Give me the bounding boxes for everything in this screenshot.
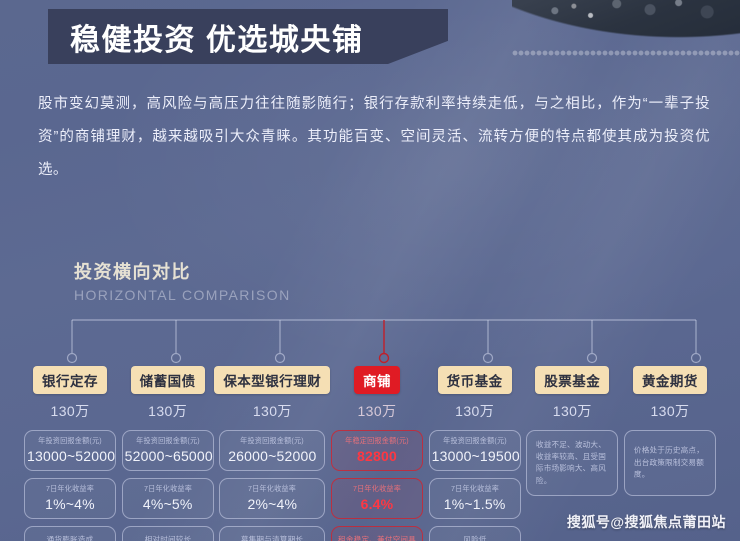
note-box: 价格处于历史高点，出台政策限制交易额度。 bbox=[624, 430, 716, 496]
return-box: 年投资回报金额(元) 26000~52000 bbox=[219, 430, 325, 471]
rate-box: 7日年化收益率 4%~5% bbox=[122, 478, 214, 519]
note-text: 通货膨胀造成 资金实际贬值 bbox=[31, 535, 109, 541]
rate-value: 6.4% bbox=[334, 495, 420, 513]
return-label: 年投资回报金额(元) bbox=[127, 435, 209, 445]
note-box: 通货膨胀造成 资金实际贬值 bbox=[24, 526, 116, 541]
column-boxes: 年稳定回报金额(元) 82800 7日年化收益率 6.4% 租金稳定、兼付空间具… bbox=[331, 430, 423, 541]
rate-box: 7日年化收益率 1%~4% bbox=[24, 478, 116, 519]
note-text: 收益不足、波动大、收益率较高、且受国际市场影响大、高风险。 bbox=[531, 439, 613, 487]
comparison-column-principal-protected: 保本型银行理财 130万 年投资回报金额(元) 26000~52000 7日年化… bbox=[219, 366, 325, 526]
column-chip[interactable]: 银行定存 bbox=[33, 366, 107, 394]
comparison-columns: 银行定存 130万 年投资回报金额(元) 13000~52000 7日年化收益率… bbox=[0, 366, 740, 526]
section-heading: 投资横向对比 HORIZONTAL COMPARISON bbox=[74, 258, 291, 303]
section-title-en: HORIZONTAL COMPARISON bbox=[74, 287, 291, 303]
comparison-column-stock-fund: 股票基金 130万 收益不足、波动大、收益率较高、且受国际市场影响大、高风险。 bbox=[526, 366, 618, 526]
column-amount: 130万 bbox=[51, 401, 90, 421]
rate-box: 7日年化收益率 2%~4% bbox=[219, 478, 325, 519]
rate-label: 7日年化收益率 bbox=[434, 483, 516, 493]
return-box: 年稳定回报金额(元) 82800 bbox=[331, 430, 423, 471]
page-title: 稳健投资 优选城央铺 bbox=[70, 15, 363, 59]
note-text: 价格处于历史高点，出台政策限制交易额度。 bbox=[629, 445, 711, 481]
note-box: 租金稳定、兼付空间具 抗风险、高抗通胀能力 bbox=[331, 526, 423, 541]
intro-paragraph: 股市变幻莫测，高风险与高压力往往随影随行；银行存款利率持续走低，与之相比，作为“… bbox=[38, 88, 710, 187]
note-box: 相对时间较长 变现不灵活 bbox=[122, 526, 214, 541]
column-boxes: 价格处于历史高点，出台政策限制交易额度。 bbox=[624, 430, 716, 496]
rate-value: 1%~1.5% bbox=[432, 495, 518, 513]
column-chip[interactable]: 黄金期货 bbox=[633, 366, 707, 394]
column-chip[interactable]: 储蓄国债 bbox=[131, 366, 205, 394]
note-text: 风险低 收益率低 bbox=[436, 535, 514, 541]
column-boxes: 年投资回报金额(元) 52000~65000 7日年化收益率 4%~5% 相对时… bbox=[122, 430, 214, 541]
column-chip[interactable]: 股票基金 bbox=[535, 366, 609, 394]
column-chip[interactable]: 货币基金 bbox=[438, 366, 512, 394]
column-chip-highlighted[interactable]: 商铺 bbox=[354, 366, 400, 394]
return-value: 13000~52000 bbox=[27, 447, 113, 465]
column-boxes: 收益不足、波动大、收益率较高、且受国际市场影响大、高风险。 bbox=[526, 430, 618, 496]
return-label: 年投资回报金额(元) bbox=[225, 435, 320, 445]
return-value: 82800 bbox=[334, 447, 420, 465]
rate-label: 7日年化收益率 bbox=[29, 483, 111, 493]
rate-box: 7日年化收益率 6.4% bbox=[331, 478, 423, 519]
column-amount: 130万 bbox=[455, 401, 494, 421]
comparison-column-money-fund: 货币基金 130万 年投资回报金额(元) 13000~19500 7日年化收益率… bbox=[429, 366, 521, 526]
note-text: 募集期与清算期长 实际收益偏低 bbox=[227, 535, 318, 541]
rate-box: 7日年化收益率 1%~1.5% bbox=[429, 478, 521, 519]
rate-value: 4%~5% bbox=[125, 495, 211, 513]
aerial-photo-image bbox=[512, 0, 740, 56]
comparison-column-gold-futures: 黄金期货 130万 价格处于历史高点，出台政策限制交易额度。 bbox=[624, 366, 716, 526]
column-boxes: 年投资回报金额(元) 26000~52000 7日年化收益率 2%~4% 募集期… bbox=[219, 430, 325, 541]
column-boxes: 年投资回报金额(元) 13000~19500 7日年化收益率 1%~1.5% 风… bbox=[429, 430, 521, 541]
column-chip[interactable]: 保本型银行理财 bbox=[214, 366, 330, 394]
rate-label: 7日年化收益率 bbox=[225, 483, 320, 493]
note-box: 收益不足、波动大、收益率较高、且受国际市场影响大、高风险。 bbox=[526, 430, 618, 496]
return-label: 年投资回报金额(元) bbox=[434, 435, 516, 445]
note-text: 租金稳定、兼付空间具 抗风险、高抗通胀能力 bbox=[338, 535, 416, 541]
column-amount: 130万 bbox=[553, 401, 592, 421]
comparison-column-bank-deposit: 银行定存 130万 年投资回报金额(元) 13000~52000 7日年化收益率… bbox=[24, 366, 116, 526]
comparison-column-shop: 商铺 130万 年稳定回报金额(元) 82800 7日年化收益率 6.4% 租金… bbox=[331, 366, 423, 526]
column-amount: 130万 bbox=[148, 401, 187, 421]
rate-value: 2%~4% bbox=[222, 495, 322, 513]
note-box: 风险低 收益率低 bbox=[429, 526, 521, 541]
aerial-photo bbox=[512, 0, 740, 56]
rate-label: 7日年化收益率 bbox=[336, 483, 418, 493]
rate-value: 1%~4% bbox=[27, 495, 113, 513]
return-box: 年投资回报金额(元) 13000~52000 bbox=[24, 430, 116, 471]
column-amount: 130万 bbox=[650, 401, 689, 421]
return-box: 年投资回报金额(元) 52000~65000 bbox=[122, 430, 214, 471]
watermark: 搜狐号@搜狐焦点莆田站 bbox=[567, 512, 726, 532]
column-amount: 130万 bbox=[357, 401, 396, 421]
return-box: 年投资回报金额(元) 13000~19500 bbox=[429, 430, 521, 471]
note-text: 相对时间较长 变现不灵活 bbox=[129, 535, 207, 541]
rate-label: 7日年化收益率 bbox=[127, 483, 209, 493]
return-label: 年稳定回报金额(元) bbox=[336, 435, 418, 445]
headline-banner: 稳健投资 优选城央铺 bbox=[48, 9, 448, 64]
return-value: 13000~19500 bbox=[432, 447, 518, 465]
return-value: 52000~65000 bbox=[125, 447, 211, 465]
comparison-column-savings-bond: 储蓄国债 130万 年投资回报金额(元) 52000~65000 7日年化收益率… bbox=[122, 366, 214, 526]
column-boxes: 年投资回报金额(元) 13000~52000 7日年化收益率 1%~4% 通货膨… bbox=[24, 430, 116, 541]
note-box: 募集期与清算期长 实际收益偏低 bbox=[219, 526, 325, 541]
column-amount: 130万 bbox=[253, 401, 292, 421]
poster-root: 稳健投资 优选城央铺 股市变幻莫测，高风险与高压力往往随影随行；银行存款利率持续… bbox=[0, 0, 740, 541]
return-label: 年投资回报金额(元) bbox=[29, 435, 111, 445]
section-title-cn: 投资横向对比 bbox=[74, 258, 291, 284]
return-value: 26000~52000 bbox=[222, 447, 322, 465]
